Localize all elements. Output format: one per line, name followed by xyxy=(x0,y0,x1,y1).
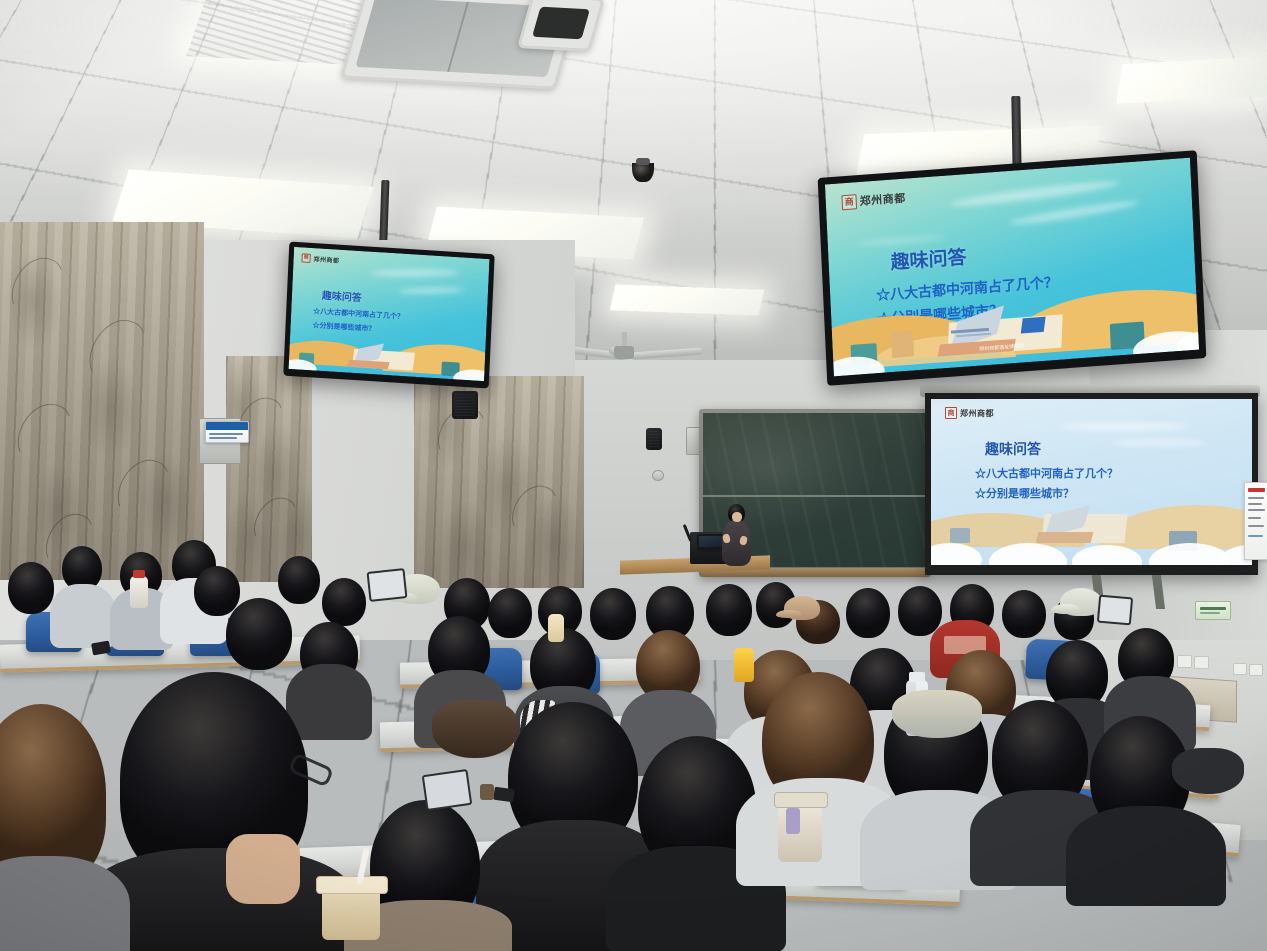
tablet-device[interactable] xyxy=(1097,595,1133,626)
tote-bag xyxy=(892,690,982,738)
sign-header xyxy=(206,422,248,430)
student-head xyxy=(846,588,890,638)
ceiling-light-panel xyxy=(610,284,765,315)
slide-bullet: ☆分别是哪些城市？ xyxy=(975,485,1074,501)
seal-icon: 商 xyxy=(945,407,957,419)
water-bottle xyxy=(734,648,754,682)
cloud xyxy=(1072,545,1142,565)
eco-notice-sign xyxy=(1195,601,1231,620)
slide-bullet: ☆八大古都中河南占了几个？ xyxy=(975,465,1118,481)
ceiling-light-panel xyxy=(1116,56,1267,104)
curtain-pattern xyxy=(111,452,175,526)
curtain-pattern xyxy=(506,479,562,543)
cloud-wisp xyxy=(1059,422,1189,431)
student-head xyxy=(1002,590,1046,638)
power-outlet[interactable] xyxy=(1233,663,1247,675)
student-head xyxy=(706,584,752,636)
student-body xyxy=(50,584,116,648)
blackboard-divider xyxy=(703,495,927,497)
student-head xyxy=(194,566,240,616)
fan-motor xyxy=(614,346,634,359)
cloud-band xyxy=(931,535,1252,565)
wristband xyxy=(480,784,494,800)
bottle-cap-icon xyxy=(133,570,145,578)
power-outlet[interactable] xyxy=(1194,656,1209,669)
slide-logo-text: 郑州商都 xyxy=(859,190,906,209)
seal-icon: 商 xyxy=(301,253,310,263)
slide-logo-text: 郑州商都 xyxy=(313,254,339,265)
student-neck xyxy=(226,834,300,904)
baseball-cap xyxy=(784,596,820,620)
power-outlet[interactable] xyxy=(1249,664,1263,676)
wall-bracket xyxy=(652,470,664,481)
student-head xyxy=(8,562,54,614)
projector-screen: 商 郑州商都 趣味问答 ☆八大古都中河南占了几个？ ☆分别是哪些城市？ xyxy=(925,393,1258,575)
slide-logo-text: 郑州商都 xyxy=(960,408,994,419)
center-ceiling-tv: 商 郑州商都 趣味问答 ☆八大古都中河南占了几个？ ☆分别是哪些城市？ xyxy=(818,150,1207,386)
wall-speaker xyxy=(646,428,662,450)
student-head xyxy=(488,588,532,638)
cloud xyxy=(931,543,982,565)
slide-logo: 商 郑州商都 xyxy=(301,253,339,264)
tablet-device[interactable] xyxy=(367,568,408,602)
handbag xyxy=(1172,748,1244,794)
left-wall-tv: 商 郑州商都 趣味问答 ☆八大古都中河南占了几个？ ☆分别是哪些城市？ xyxy=(283,242,494,389)
poster-line xyxy=(1248,517,1261,519)
presenter-face xyxy=(732,512,742,522)
sign-line xyxy=(1200,607,1226,610)
slide-surface: 商 郑州商都 趣味问答 ☆八大古都中河南占了几个？ ☆分别是哪些城市？ xyxy=(825,158,1199,377)
air-conditioner-vent xyxy=(517,0,605,52)
slide-title: 趣味问答 xyxy=(322,287,363,305)
lecture-hall-photo: 商 郑州商都 趣味问答 ☆八大古都中河南占了几个？ ☆分别是哪些城市？ xyxy=(0,0,1267,951)
poster-line xyxy=(1248,509,1265,511)
sign-line xyxy=(209,437,237,439)
slide-logo: 商 郑州商都 xyxy=(841,190,906,211)
slide-bullet: ☆八大古都中河南占了几个？ xyxy=(313,306,404,322)
projector-image-area: 商 郑州商都 趣味问答 ☆八大古都中河南占了几个？ ☆分别是哪些城市？ xyxy=(931,399,1252,565)
slide-logo: 商 郑州商都 xyxy=(945,407,994,419)
water-bottle xyxy=(130,576,148,608)
cloud-wisp xyxy=(371,269,459,277)
tumbler-strap xyxy=(786,808,800,834)
curtain-pattern xyxy=(5,250,69,324)
window-curtain xyxy=(226,356,312,582)
water-bottle xyxy=(548,614,564,642)
student-head xyxy=(898,586,942,636)
cloud xyxy=(452,368,489,381)
power-outlet[interactable] xyxy=(1177,655,1192,668)
curtain-pattern xyxy=(248,491,301,553)
slide-surface: 商 郑州商都 趣味问答 ☆八大古都中河南占了几个？ ☆分别是哪些城市？ xyxy=(931,399,1252,565)
phone[interactable] xyxy=(493,787,515,803)
slide-bullet: ☆分别是哪些城市？ xyxy=(312,320,375,334)
ac-grille xyxy=(532,7,590,40)
slide-title: 趣味问答 xyxy=(890,242,967,275)
cup-lid xyxy=(316,876,388,894)
student-head xyxy=(226,598,292,670)
wall-speaker xyxy=(452,391,478,419)
cup-lid xyxy=(774,792,828,808)
cloud xyxy=(1149,543,1231,565)
bottle-cap-icon xyxy=(909,672,925,682)
tv-screen-area: 商 郑州商都 趣味问答 ☆八大古都中河南占了几个？ ☆分别是哪些城市？ xyxy=(825,158,1199,377)
window-curtain xyxy=(414,376,584,588)
sign-line xyxy=(1200,612,1220,614)
safety-poster xyxy=(1244,482,1267,560)
poster-heading xyxy=(1248,488,1265,492)
poster-line xyxy=(1248,503,1262,505)
curtain-pattern xyxy=(82,311,152,392)
tv-screen-area: 商 郑州商都 趣味问答 ☆八大古都中河南占了几个？ ☆分别是哪些城市？ xyxy=(289,247,490,381)
student-body xyxy=(286,664,372,740)
cloud xyxy=(289,358,318,378)
tablet-device[interactable] xyxy=(422,769,473,811)
poster-line xyxy=(1248,497,1264,499)
cloud-wisp xyxy=(1010,198,1140,228)
baseball-cap xyxy=(1060,588,1102,616)
student-head xyxy=(590,588,636,640)
evacuation-sign xyxy=(205,421,249,443)
fan-blade xyxy=(632,348,702,360)
tumbler xyxy=(778,800,822,862)
poster-line xyxy=(1248,535,1263,537)
poster-line xyxy=(1248,525,1264,527)
student-head xyxy=(278,556,320,604)
student-head xyxy=(322,578,366,626)
cloud-wisp xyxy=(398,286,464,294)
curtain-pattern xyxy=(11,396,78,473)
cloud xyxy=(989,543,1067,565)
student-body-foreground xyxy=(1066,806,1226,906)
slide-surface: 商 郑州商都 趣味问答 ☆八大古都中河南占了几个？ ☆分别是哪些城市？ xyxy=(289,247,490,381)
backpack xyxy=(432,700,518,758)
slide-title: 趣味问答 xyxy=(985,439,1041,459)
window-curtain xyxy=(0,222,204,580)
seal-icon: 商 xyxy=(841,194,857,210)
cloud xyxy=(825,355,886,377)
cloud-wisp xyxy=(1111,439,1206,446)
sign-line xyxy=(209,433,243,435)
